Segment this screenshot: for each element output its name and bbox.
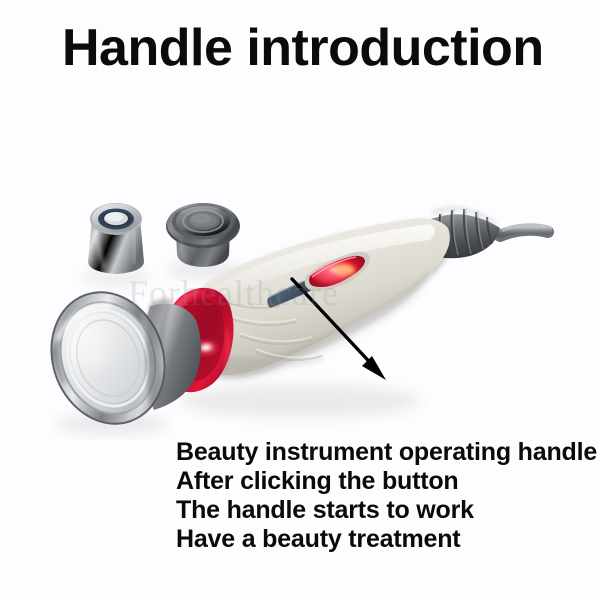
ultrasonic-disc-head bbox=[32, 275, 201, 440]
large-attachment-cap bbox=[166, 203, 240, 279]
small-attachment-cap bbox=[82, 203, 150, 286]
caption-line-2: After clicking the button bbox=[176, 467, 597, 496]
caption-line-3: The handle starts to work bbox=[176, 496, 597, 525]
caption-line-1: Beauty instrument operating handle bbox=[176, 438, 597, 467]
caption-line-4: Have a beauty treatment bbox=[176, 525, 597, 554]
power-cable bbox=[500, 225, 548, 236]
product-instruction-image: Handle introduction bbox=[0, 0, 600, 600]
product-illustration bbox=[0, 0, 600, 440]
caption-block: Beauty instrument operating handle After… bbox=[176, 438, 597, 554]
